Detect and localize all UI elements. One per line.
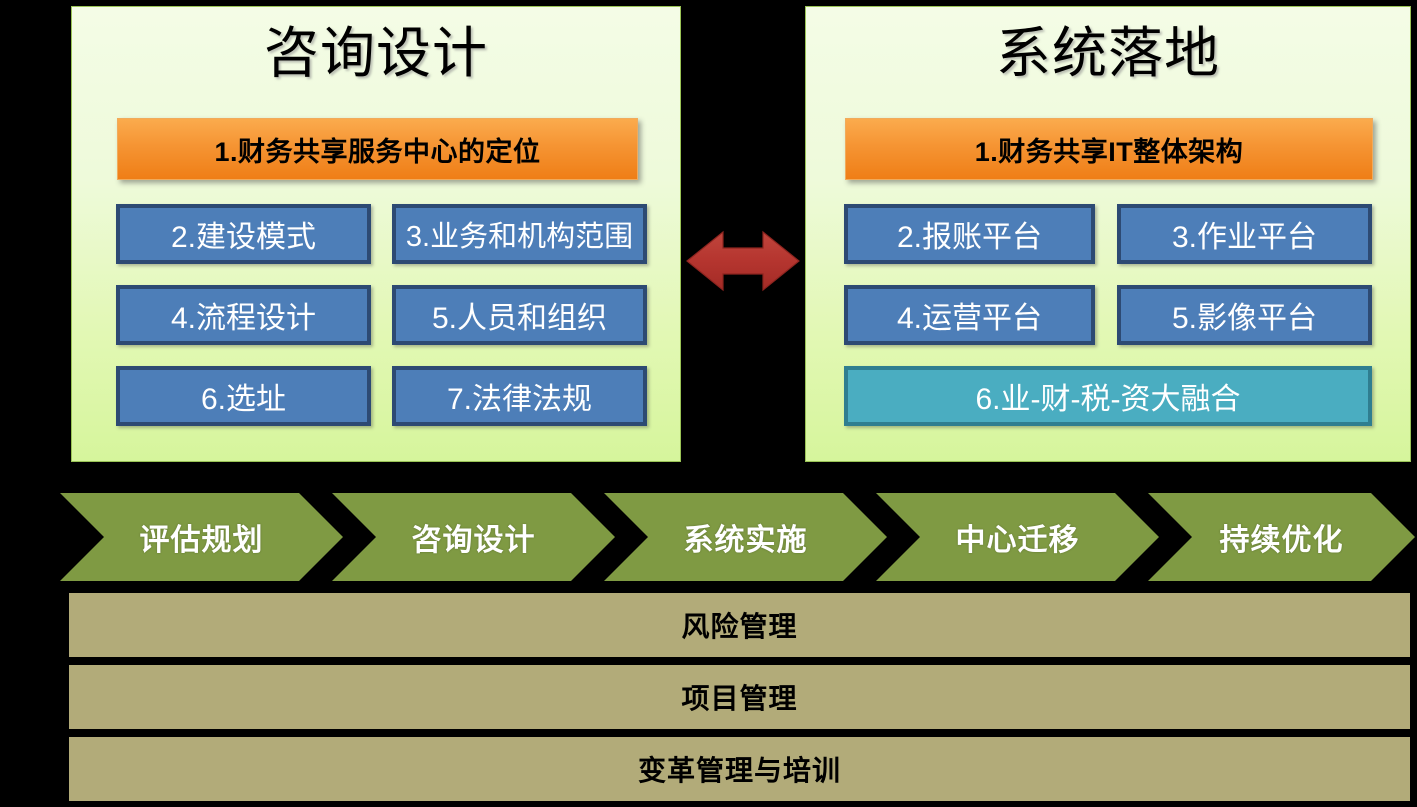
panel-left-item-4[interactable]: 4.流程设计 bbox=[116, 285, 371, 345]
process-chevron-band: 评估规划 咨询设计 系统实施 中心迁移 持续优化 bbox=[60, 493, 1415, 581]
process-step-5[interactable]: 持续优化 bbox=[1148, 493, 1415, 581]
panel-right-item-6[interactable]: 6.业-财-税-资大融合 bbox=[844, 366, 1372, 426]
panel-left-item-6[interactable]: 6.选址 bbox=[116, 366, 371, 426]
process-step-1[interactable]: 评估规划 bbox=[60, 493, 343, 581]
panel-left-item-3[interactable]: 3.业务和机构范围 bbox=[392, 204, 647, 264]
panel-right-header-chip[interactable]: 1.财务共享IT整体架构 bbox=[845, 118, 1373, 180]
panel-left-item-7[interactable]: 7.法律法规 bbox=[392, 366, 647, 426]
diagram-canvas: 咨询设计 1.财务共享服务中心的定位 2.建设模式 3.业务和机构范围 4.流程… bbox=[0, 0, 1417, 807]
panel-right-item-5[interactable]: 5.影像平台 bbox=[1117, 285, 1372, 345]
panel-consulting-design: 咨询设计 1.财务共享服务中心的定位 2.建设模式 3.业务和机构范围 4.流程… bbox=[71, 6, 681, 462]
double-arrow-icon bbox=[681, 216, 805, 306]
panel-right-item-3[interactable]: 3.作业平台 bbox=[1117, 204, 1372, 264]
panel-left-header-chip[interactable]: 1.财务共享服务中心的定位 bbox=[117, 118, 638, 180]
process-step-2[interactable]: 咨询设计 bbox=[332, 493, 615, 581]
panel-left-title: 咨询设计 bbox=[72, 17, 680, 89]
panel-left-item-5[interactable]: 5.人员和组织 bbox=[392, 285, 647, 345]
process-step-3[interactable]: 系统实施 bbox=[604, 493, 887, 581]
panel-right-item-4[interactable]: 4.运营平台 bbox=[844, 285, 1095, 345]
panel-system-implementation: 系统落地 1.财务共享IT整体架构 2.报账平台 3.作业平台 4.运营平台 5… bbox=[805, 6, 1411, 462]
support-bar-change[interactable]: 变革管理与培训 bbox=[69, 737, 1410, 801]
panel-right-item-2[interactable]: 2.报账平台 bbox=[844, 204, 1095, 264]
panel-right-title: 系统落地 bbox=[806, 17, 1410, 89]
support-bar-project[interactable]: 项目管理 bbox=[69, 665, 1410, 729]
support-bar-risk[interactable]: 风险管理 bbox=[69, 593, 1410, 657]
process-step-4[interactable]: 中心迁移 bbox=[876, 493, 1159, 581]
panel-left-item-2[interactable]: 2.建设模式 bbox=[116, 204, 371, 264]
